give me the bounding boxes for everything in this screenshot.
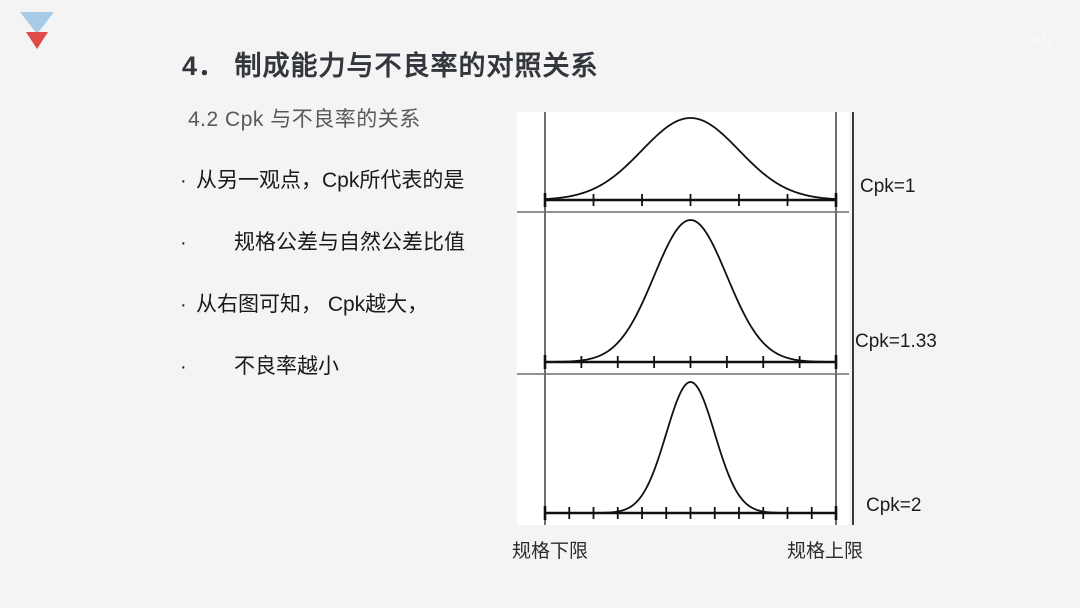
bullet-text: 不良率越小 bbox=[196, 352, 339, 382]
page-subtitle: 4.2 Cpk 与不良率的关系 bbox=[188, 103, 421, 133]
list-item: · 从右图可知， Cpk越大， bbox=[180, 290, 530, 352]
cpk-legend-1: Cpk=1 bbox=[860, 176, 915, 198]
bullet-marker: · bbox=[180, 290, 196, 320]
bullet-list: · 从另一观点，Cpk所代表的是 · 规格公差与自然公差比值 · 从右图可知， … bbox=[180, 166, 530, 414]
cpk-1-33-panel-curve bbox=[545, 220, 836, 362]
cpk-2-panel-curve bbox=[545, 382, 836, 513]
bullet-text: 规格公差与自然公差比值 bbox=[196, 228, 465, 258]
cpk-1-panel-curve bbox=[545, 118, 836, 199]
bullet-marker: · bbox=[180, 352, 196, 382]
chart-canvas bbox=[517, 112, 849, 525]
slide-canvas: KM 4． 制成能力与不良率的对照关系 4.2 Cpk 与不良率的关系 · 从另… bbox=[0, 0, 1080, 608]
spec-upper-limit-label: 规格上限 bbox=[787, 536, 863, 563]
chart-right-rule bbox=[852, 112, 854, 525]
bullet-text: 从右图可知， Cpk越大， bbox=[196, 290, 428, 320]
list-item: · 规格公差与自然公差比值 bbox=[180, 228, 530, 290]
cpk-legend-1-33: Cpk=1.33 bbox=[855, 331, 937, 353]
logo-triangle-blue-icon bbox=[20, 12, 54, 34]
bullet-text: 从另一观点，Cpk所代表的是 bbox=[196, 166, 464, 196]
cpk-distribution-chart bbox=[517, 112, 849, 525]
bullet-marker: · bbox=[180, 166, 196, 196]
spec-lower-limit-label: 规格下限 bbox=[512, 536, 588, 563]
bullet-marker: · bbox=[180, 228, 196, 258]
double-triangle-logo bbox=[18, 8, 62, 64]
page-title: 4． 制成能力与不良率的对照关系 bbox=[182, 44, 599, 83]
watermark: KM bbox=[1033, 34, 1055, 49]
logo-triangle-red-icon bbox=[26, 32, 48, 49]
list-item: · 不良率越小 bbox=[180, 352, 530, 414]
list-item: · 从另一观点，Cpk所代表的是 bbox=[180, 166, 530, 228]
cpk-legend-2: Cpk=2 bbox=[866, 495, 921, 517]
